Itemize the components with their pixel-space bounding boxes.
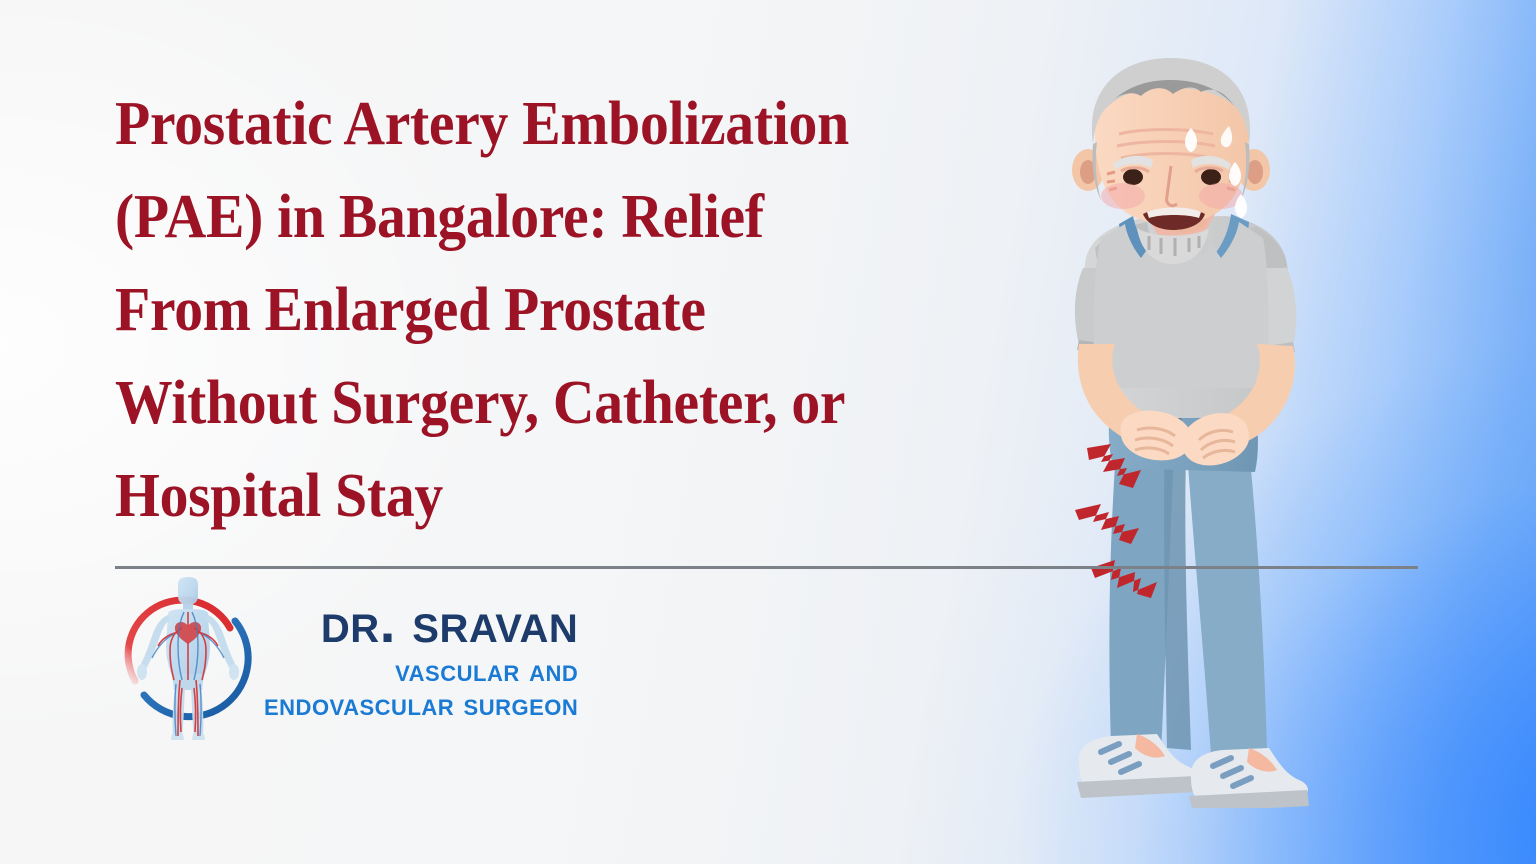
title-line-4: Without Surgery, Catheter, or — [115, 357, 887, 450]
left-eye — [1123, 169, 1143, 185]
right-shoe — [1189, 748, 1309, 808]
logo-name: Dr. Sravan — [321, 593, 578, 653]
left-cheek — [1101, 183, 1145, 209]
title-line-5: Hospital Stay — [115, 450, 887, 543]
logo-tagline-line1: Vascular and — [395, 653, 578, 687]
human-circulatory-system-icon — [118, 576, 258, 741]
horizontal-divider — [115, 566, 1418, 569]
title-line-2: (PAE) in Bangalore: Relief — [115, 171, 887, 264]
right-eye — [1201, 169, 1221, 185]
elderly-man-illustration — [1015, 48, 1375, 808]
logo[interactable]: Dr. Sravan Vascular and Endovascular sur… — [118, 576, 578, 741]
banner-root: Prostatic Artery Embolization (PAE) in B… — [0, 0, 1536, 864]
title-line-3: From Enlarged Prostate — [115, 264, 887, 357]
leg-inner-shadow — [1164, 428, 1191, 750]
page-title: Prostatic Artery Embolization (PAE) in B… — [115, 78, 945, 543]
title-line-1: Prostatic Artery Embolization — [115, 78, 887, 171]
logo-wordmark: Dr. Sravan Vascular and Endovascular sur… — [264, 593, 578, 725]
logo-tagline-line2: Endovascular surgeon — [264, 687, 578, 721]
